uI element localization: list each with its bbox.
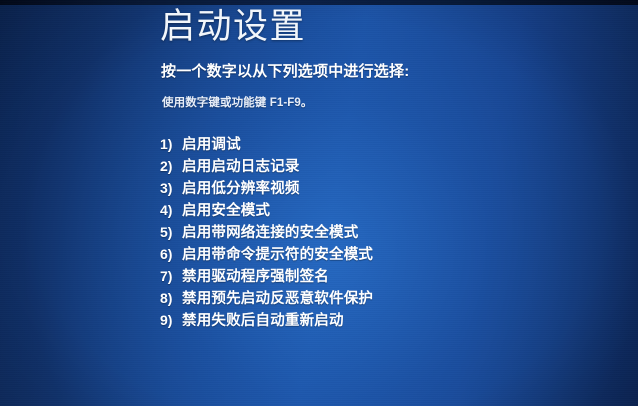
startup-options-list: 1)启用调试2)启用启动日志记录3)启用低分辨率视频4)启用安全模式5)启用带网… xyxy=(160,133,600,331)
startup-option-number: 6) xyxy=(160,246,182,262)
startup-option-item[interactable]: 5)启用带网络连接的安全模式 xyxy=(160,221,600,243)
startup-option-item[interactable]: 4)启用安全模式 xyxy=(160,199,600,221)
startup-option-label: 启用启动日志记录 xyxy=(182,155,300,176)
startup-option-number: 9) xyxy=(160,312,182,328)
startup-option-item[interactable]: 1)启用调试 xyxy=(160,133,600,155)
startup-option-item[interactable]: 9)禁用失败后自动重新启动 xyxy=(160,309,600,331)
startup-option-label: 启用带命令提示符的安全模式 xyxy=(182,243,373,264)
page-title: 启动设置 xyxy=(160,6,306,48)
startup-option-number: 2) xyxy=(160,158,182,174)
startup-option-label: 启用带网络连接的安全模式 xyxy=(182,221,358,242)
startup-option-label: 禁用驱动程序强制签名 xyxy=(182,265,329,286)
startup-option-number: 8) xyxy=(160,290,182,306)
startup-option-label: 禁用失败后自动重新启动 xyxy=(182,309,344,330)
startup-option-item[interactable]: 7)禁用驱动程序强制签名 xyxy=(160,265,600,287)
startup-settings-content: 启动设置 按一个数字以从下列选项中进行选择: 使用数字键或功能键 F1-F9。 … xyxy=(160,0,600,406)
startup-option-number: 7) xyxy=(160,268,182,284)
startup-option-label: 禁用预先启动反恶意软件保护 xyxy=(182,287,373,308)
startup-option-item[interactable]: 2)启用启动日志记录 xyxy=(160,155,600,177)
keyboard-hint-text: 使用数字键或功能键 F1-F9。 xyxy=(162,95,312,111)
startup-option-label: 启用低分辨率视频 xyxy=(182,177,300,198)
instruction-subtitle: 按一个数字以从下列选项中进行选择: xyxy=(161,62,409,82)
startup-option-item[interactable]: 6)启用带命令提示符的安全模式 xyxy=(160,243,600,265)
startup-option-number: 4) xyxy=(160,202,182,218)
startup-option-item[interactable]: 3)启用低分辨率视频 xyxy=(160,177,600,199)
startup-option-number: 5) xyxy=(160,224,182,240)
startup-option-number: 1) xyxy=(160,136,182,152)
startup-option-item[interactable]: 8)禁用预先启动反恶意软件保护 xyxy=(160,287,600,309)
startup-option-number: 3) xyxy=(160,180,182,196)
startup-settings-screen: 启动设置 按一个数字以从下列选项中进行选择: 使用数字键或功能键 F1-F9。 … xyxy=(0,0,638,406)
startup-option-label: 启用调试 xyxy=(182,133,241,154)
startup-option-label: 启用安全模式 xyxy=(182,199,270,220)
